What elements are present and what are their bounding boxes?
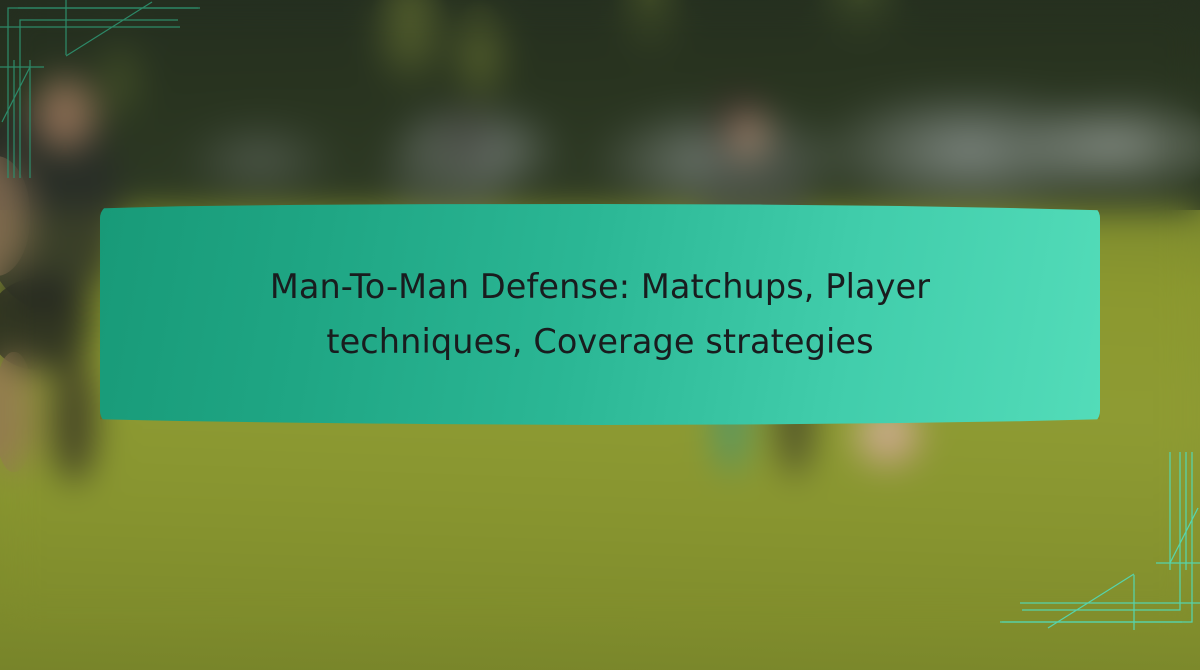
page-title: Man-To-Man Defense: Matchups, Player tec…: [230, 260, 970, 369]
title-card: Man-To-Man Defense: Matchups, Player tec…: [100, 204, 1100, 425]
